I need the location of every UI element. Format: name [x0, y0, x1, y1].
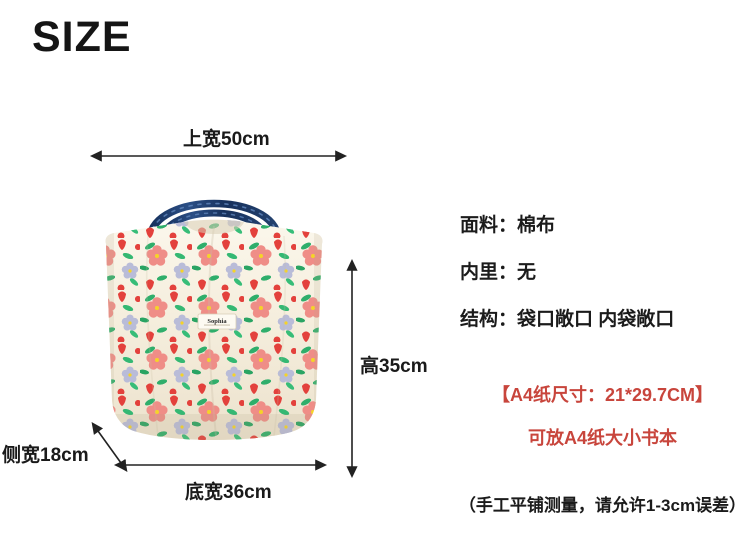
a4-capacity-note: 可放A4纸大小书本 [460, 429, 745, 447]
spec-material: 面料：棉布 [460, 216, 745, 235]
spec-structure: 结构：袋口敞口 内袋敞口 [460, 310, 745, 329]
top-width-label: 上宽50cm [183, 130, 270, 149]
a4-size-note: 【A4纸尺寸：21*29.7CM】 [460, 386, 745, 404]
spec-list: 面料：棉布 内里：无 结构：袋口敞口 内袋敞口 [460, 216, 745, 329]
bag-illustration: Sophia [88, 186, 340, 464]
svg-text:Sophia: Sophia [207, 318, 227, 325]
side-width-label: 侧宽18cm [2, 446, 89, 465]
bottom-width-label: 底宽36cm [185, 483, 272, 502]
page-title: SIZE [32, 16, 132, 59]
brand-label: Sophia [198, 314, 236, 329]
height-label: 高35cm [360, 357, 428, 376]
capacity-note: 【A4纸尺寸：21*29.7CM】 可放A4纸大小书本 [460, 386, 745, 447]
size-infographic: SIZE [0, 0, 750, 555]
spec-lining: 内里：无 [460, 263, 745, 282]
measurement-disclaimer: （手工平铺测量，请允许1-3cm误差） [455, 497, 750, 514]
